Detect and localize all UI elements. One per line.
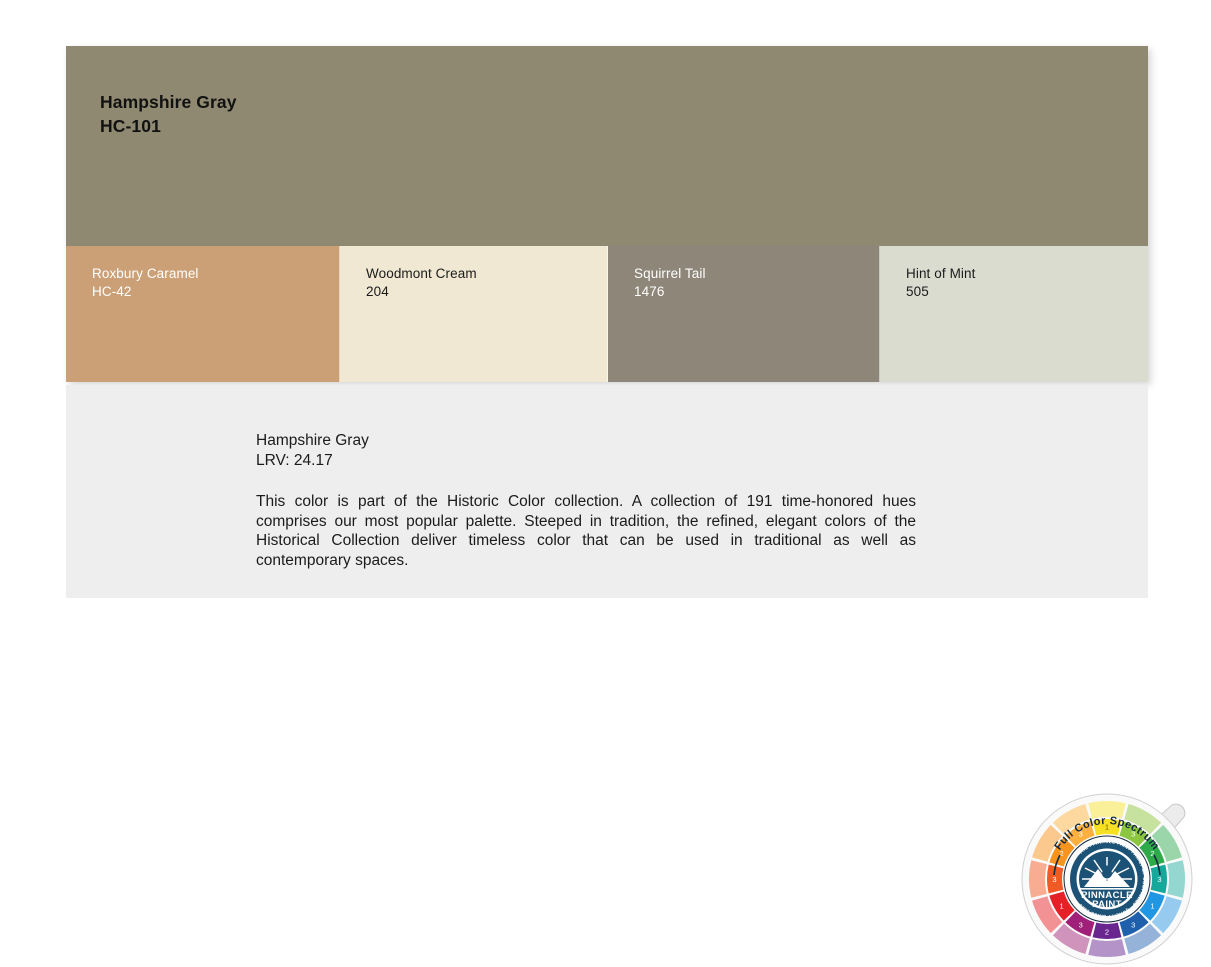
description-body: This color is part of the Historic Color…	[256, 492, 916, 570]
hero-color-code: HC-101	[100, 114, 1148, 138]
swatch-woodmont-cream[interactable]: Woodmont Cream 204	[340, 246, 608, 382]
swatch-color-name: Woodmont Cream	[366, 265, 607, 283]
swatch-squirrel-tail[interactable]: Squirrel Tail 1476	[608, 246, 880, 382]
swatch-color-name: Hint of Mint	[906, 265, 1148, 283]
wheel-segment-number: 3	[1157, 875, 1161, 884]
description-lrv: LRV: 24.17	[256, 451, 916, 471]
swatch-color-code: 204	[366, 283, 607, 301]
hero-color-name: Hampshire Gray	[100, 90, 1148, 114]
badge-brand-line-2: PAINT	[1092, 899, 1122, 910]
swatch-hint-of-mint[interactable]: Hint of Mint 505	[880, 246, 1148, 382]
swatch-color-code: 1476	[634, 283, 879, 301]
swatch-color-name: Roxbury Caramel	[92, 265, 339, 283]
wheel-wedge	[1029, 860, 1047, 897]
swatch-color-name: Squirrel Tail	[634, 265, 879, 283]
wheel-segment-number: 3	[1079, 920, 1083, 929]
description-text-block: Hampshire Gray LRV: 24.17 This color is …	[256, 431, 916, 570]
wheel-segment-number: 1	[1150, 901, 1154, 910]
swatch-color-code: 505	[906, 283, 1148, 301]
swatch-color-code: HC-42	[92, 283, 339, 301]
wheel-segment-number: 3	[1052, 875, 1056, 884]
wheel-segment-number: 2	[1105, 928, 1109, 937]
pinnacle-paint-color-wheel-logo: 132313231323 Full Color Spectrum	[1014, 791, 1200, 967]
color-palette-page: Hampshire Gray HC-101 Roxbury Caramel HC…	[0, 0, 1211, 656]
color-wheel-icon: 132313231323 Full Color Spectrum	[1014, 791, 1200, 967]
wheel-segment-number: 1	[1059, 901, 1063, 910]
coordinating-swatch-row: Roxbury Caramel HC-42 Woodmont Cream 204…	[66, 246, 1148, 382]
description-panel: Hampshire Gray LRV: 24.17 This color is …	[66, 385, 1148, 598]
swatch-roxbury-caramel[interactable]: Roxbury Caramel HC-42	[66, 246, 340, 382]
wheel-wedge	[1088, 939, 1125, 957]
wheel-segment-number: 3	[1131, 920, 1135, 929]
wheel-wedge	[1167, 860, 1185, 897]
hero-swatch[interactable]: Hampshire Gray HC-101	[66, 46, 1148, 246]
color-card: Hampshire Gray HC-101 Roxbury Caramel HC…	[66, 46, 1148, 382]
description-color-name: Hampshire Gray	[256, 431, 916, 451]
